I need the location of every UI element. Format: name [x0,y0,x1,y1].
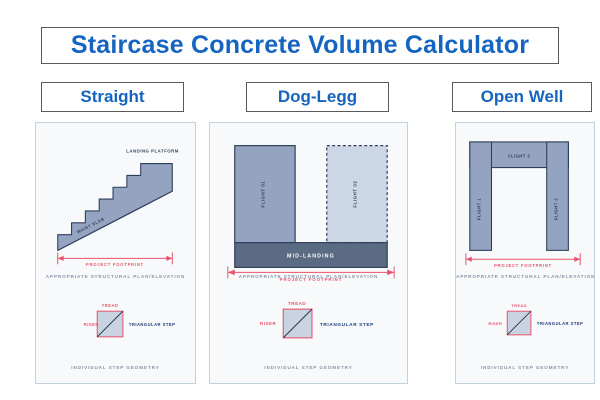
step-shape-label: TRIANGULAR STEP [320,322,374,328]
dog-legg-stair-diagram: FLIGHT 01 FLIGHT 02 MID-LANDING PROJECT … [210,123,407,291]
flight-right-label: FLIGHT 2 [554,198,559,220]
step-shape-label: TRIANGULAR STEP [537,321,584,326]
column-header-open-well-label: Open Well [481,87,564,107]
footprint-dimension-label: PROJECT FOOTPRINT [494,263,552,268]
panel-dog-legg-step-caption: INDIVIDUAL STEP GEOMETRY [210,365,407,370]
straight-stair-diagram: LANDING PLATFORM WAIST SLAB PROJECT FOOT… [36,123,195,291]
column-header-dog-legg-label: Dog-Legg [278,87,357,107]
calculator-sheet: Staircase Concrete Volume Calculator Str… [0,0,600,400]
panel-open-well[interactable]: FLIGHT 3 FLIGHT 1 FLIGHT 2 PROJECT FOOTP… [455,122,595,384]
riser-label: RISER [260,321,277,326]
footprint-dimension-label: PROJECT FOOTPRINT [86,262,144,267]
landing-platform-label: LANDING PLATFORM [126,149,179,154]
straight-step-detail: TREAD RISER TRIANGULAR STEP [36,293,195,355]
flight-top-label: FLIGHT 3 [508,154,530,159]
page-title: Staircase Concrete Volume Calculator [41,27,559,64]
flight-two-label: FLIGHT 02 [353,181,358,208]
riser-label: RISER [84,322,99,327]
tread-label: TREAD [102,303,119,308]
panel-dog-legg[interactable]: FLIGHT 01 FLIGHT 02 MID-LANDING PROJECT … [209,122,408,384]
tread-label: TREAD [288,301,306,306]
open-well-step-detail: TREAD RISER TRIANGULAR STEP [456,293,594,355]
flight-right-shape [547,142,569,250]
panel-straight-caption: APPROPRIATE STRUCTURAL PLAN/ELEVATION [36,274,195,279]
flight-left-shape [470,142,492,250]
open-well-stair-diagram: FLIGHT 3 FLIGHT 1 FLIGHT 2 PROJECT FOOTP… [456,123,594,291]
flight-one-label: FLIGHT 01 [260,181,265,208]
dog-legg-step-detail: TREAD RISER TRIANGULAR STEP [210,293,407,355]
panel-open-well-caption: APPROPRIATE STRUCTURAL PLAN/ELEVATION [456,274,594,279]
panel-straight[interactable]: LANDING PLATFORM WAIST SLAB PROJECT FOOT… [35,122,196,384]
panel-open-well-step-caption: INDIVIDUAL STEP GEOMETRY [456,365,594,370]
mid-landing-label: MID-LANDING [287,253,335,259]
flight-left-label: FLIGHT 1 [477,198,482,220]
column-header-straight-label: Straight [80,87,144,107]
column-header-straight[interactable]: Straight [41,82,184,112]
panel-dog-legg-caption: APPROPRIATE STRUCTURAL PLAN/ELEVATION [210,274,407,279]
panel-straight-step-caption: INDIVIDUAL STEP GEOMETRY [36,365,195,370]
riser-label: RISER [488,321,502,326]
column-header-dog-legg[interactable]: Dog-Legg [246,82,389,112]
step-shape-label: TRIANGULAR STEP [129,322,176,327]
tread-label: TREAD [511,303,527,308]
page-title-text: Staircase Concrete Volume Calculator [71,31,529,60]
column-header-open-well[interactable]: Open Well [452,82,592,112]
straight-waist-slab-shape [58,164,173,251]
